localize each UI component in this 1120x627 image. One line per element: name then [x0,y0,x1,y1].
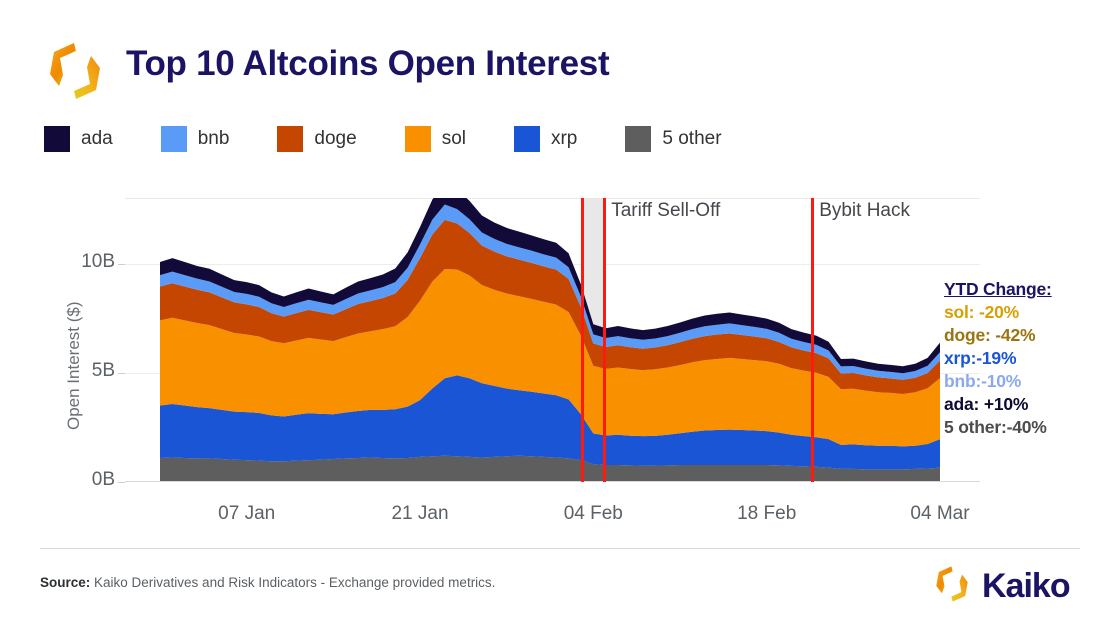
legend-item-sol[interactable]: sol [405,126,466,152]
event-label-bybit-hack: Bybit Hack [819,200,910,222]
ytd-row-xrp: xrp:-19% [944,347,1114,370]
legend-swatch-bnb-icon [161,126,187,152]
chart-plot-area [125,198,980,482]
event-line-bybit-hack [811,198,814,482]
legend-label: ada [81,128,113,150]
stacked-area-series [125,198,980,482]
legend-item-xrp[interactable]: xrp [514,126,577,152]
brand-name: Kaiko [982,567,1070,606]
event-label-tariff-sell-off: Tariff Sell-Off [611,200,720,222]
y-tick-label-10B: 10B [55,251,115,273]
y-tick-mark [118,373,125,374]
kaiko-hexagon-logo-icon [930,562,974,611]
ytd-row-bnb: bnb:-10% [944,370,1114,393]
ytd-row-ada: ada: +10% [944,393,1114,416]
ytd-row-sol: sol: -20% [944,301,1114,324]
y-tick-mark [118,482,125,483]
footer-brand: Kaiko [930,562,1070,611]
x-tick-label-04-Mar: 04 Mar [885,503,995,525]
source-label: Source: [40,575,90,590]
legend-swatch-doge-icon [277,126,303,152]
x-tick-label-07-Jan: 07 Jan [192,503,302,525]
ytd-change-panel: YTD Change: sol: -20%doge: -42%xrp:-19%b… [944,278,1114,439]
chart-legend: adabnbdogesolxrp5 other [44,124,770,154]
event-line-tariff-sell-off [581,198,584,482]
x-tick-label-21-Jan: 21 Jan [365,503,475,525]
y-tick-label-0B: 0B [55,469,115,491]
kaiko-hexagon-logo-icon [40,36,110,106]
y-tick-mark [118,264,125,265]
legend-item-ada[interactable]: ada [44,126,113,152]
x-axis-line [125,481,980,482]
event-line-tariff-sell-off-end [603,198,606,482]
ytd-row-doge: doge: -42% [944,324,1114,347]
legend-item-5-other[interactable]: 5 other [625,126,721,152]
ytd-title: YTD Change: [944,278,1114,301]
header: Top 10 Altcoins Open Interest [0,0,1120,110]
legend-item-doge[interactable]: doge [277,126,356,152]
ytd-row-5-other: 5 other:-40% [944,416,1114,439]
legend-label: sol [442,128,466,150]
y-tick-label-5B: 5B [55,360,115,382]
legend-label: 5 other [662,128,721,150]
legend-swatch-sol-icon [405,126,431,152]
page-title: Top 10 Altcoins Open Interest [126,44,609,84]
x-tick-label-18-Feb: 18 Feb [712,503,822,525]
footer-divider [40,548,1080,549]
source-note: Source: Kaiko Derivatives and Risk Indic… [40,575,495,590]
legend-label: bnb [198,128,230,150]
x-tick-label-04-Feb: 04 Feb [538,503,648,525]
legend-label: xrp [551,128,577,150]
legend-label: doge [314,128,356,150]
legend-swatch-5-other-icon [625,126,651,152]
legend-item-bnb[interactable]: bnb [161,126,230,152]
legend-swatch-xrp-icon [514,126,540,152]
source-text: Kaiko Derivatives and Risk Indicators - … [90,575,495,590]
legend-swatch-ada-icon [44,126,70,152]
